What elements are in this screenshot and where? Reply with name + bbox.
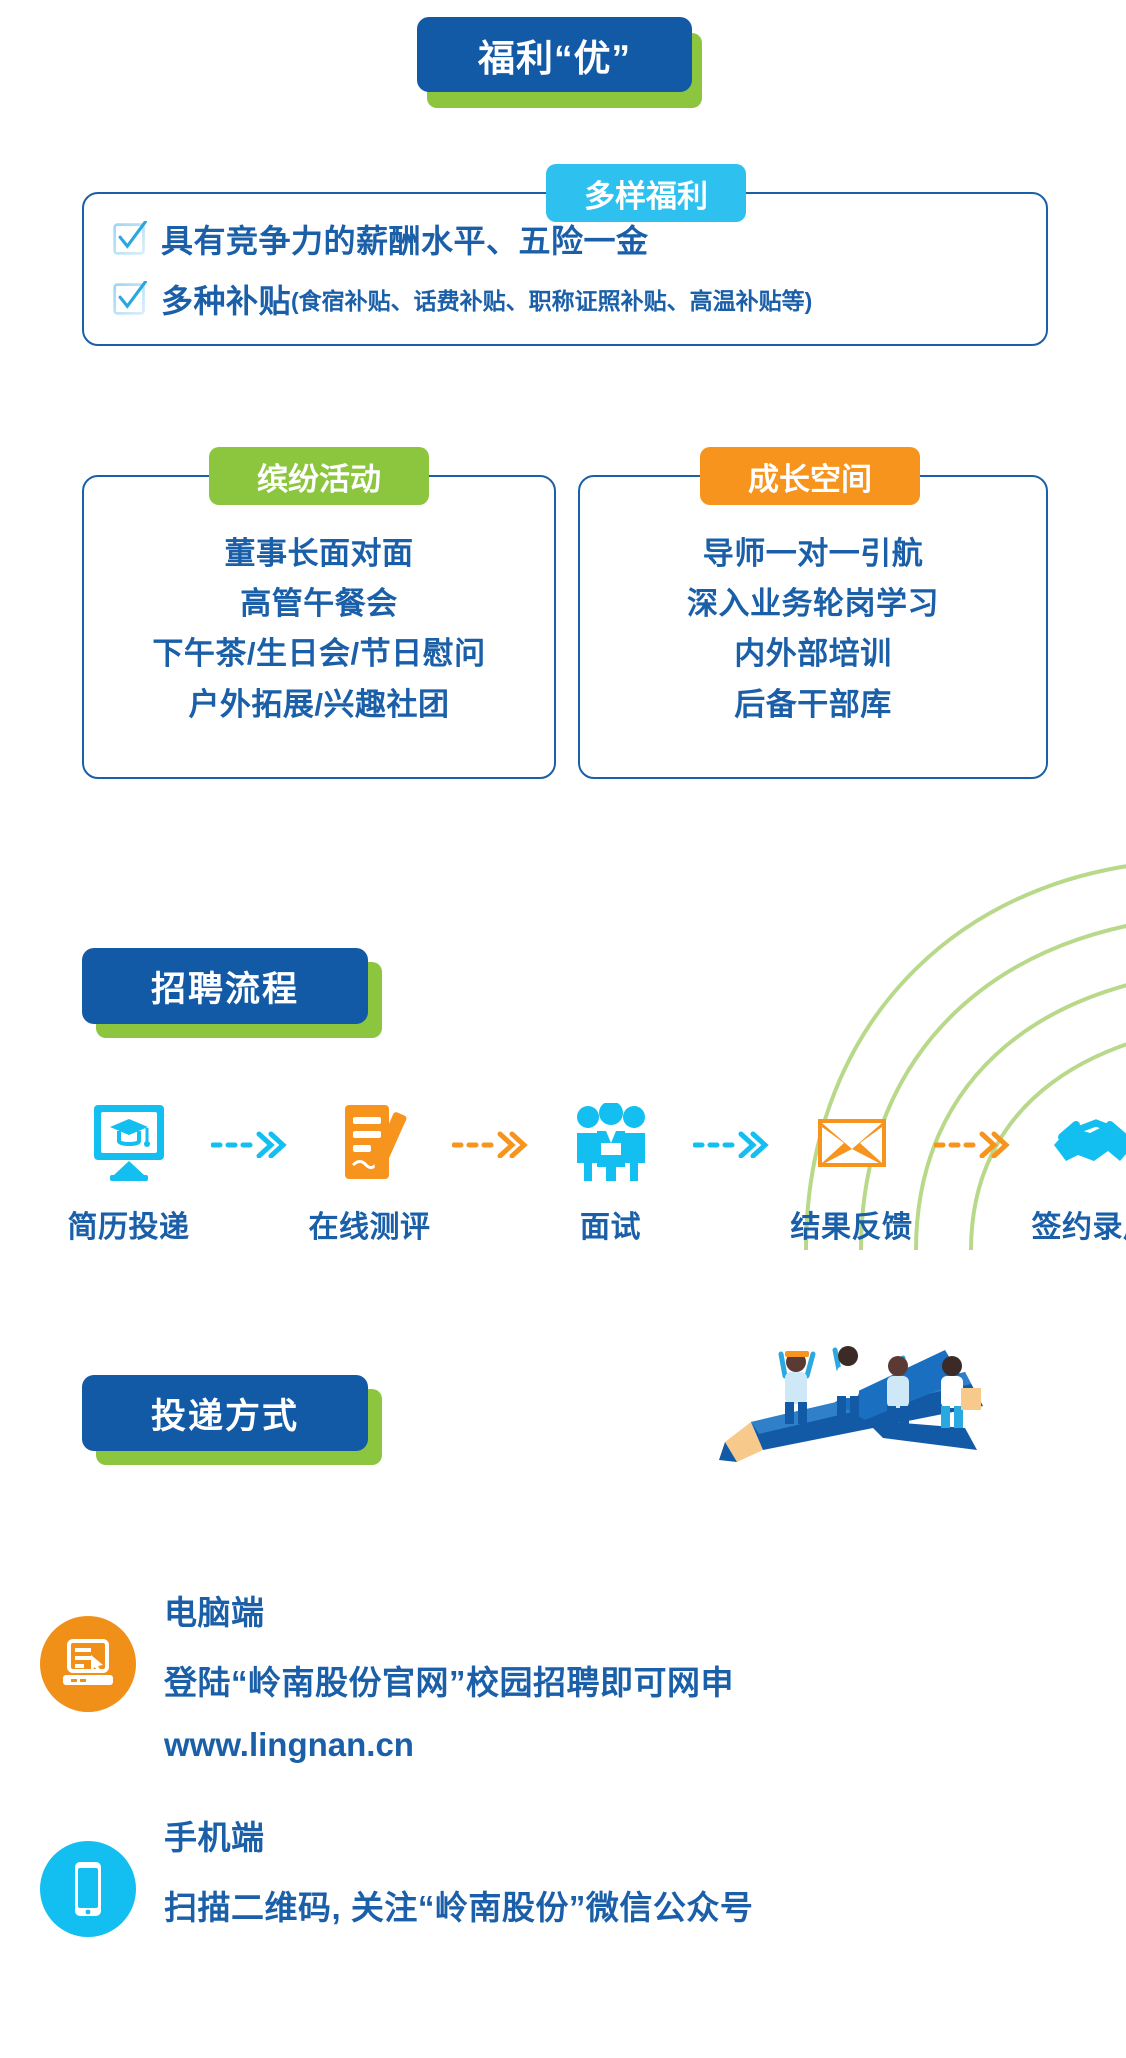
arrow-2-icon — [452, 1100, 528, 1158]
checkbox-checked-icon — [112, 221, 148, 257]
process-step-2: 在线测评 — [287, 1100, 452, 1246]
benefits-panel: 多样福利 具有竞争力的薪酬水平、五险一金 多种补贴 (食宿补贴、话费补贴、职称证… — [82, 192, 1048, 346]
process-step-label: 面试 — [528, 1202, 693, 1246]
process-steps: 简历投递 — [46, 1100, 1088, 1260]
benefit-row: 多种补贴 (食宿补贴、话费补贴、职称证照补贴、高温补贴等) — [112, 276, 812, 322]
process-section-badge: 招聘流程 — [82, 948, 382, 1038]
envelope-icon — [769, 1100, 934, 1186]
monitor-graduation-cap-icon — [46, 1100, 211, 1186]
contact-pc-url[interactable]: www.lingnan.cn — [164, 1726, 734, 1764]
list-item: 下午茶/生日会/节日慰问 — [84, 629, 554, 679]
growth-panel: 成长空间 导师一对一引航 深入业务轮岗学习 内外部培训 后备干部库 — [578, 475, 1048, 779]
process-step-5: 签约录用 — [1010, 1100, 1126, 1246]
contact-mobile-line: 扫描二维码, 关注“岭南股份”微信公众号 — [164, 1881, 753, 1929]
benefit-row: 具有竞争力的薪酬水平、五险一金 — [112, 216, 649, 262]
smartphone-icon — [40, 1841, 136, 1937]
process-step-label: 在线测评 — [287, 1202, 452, 1246]
document-pen-icon — [287, 1100, 452, 1186]
contact-pc-row: 电脑端 登陆“岭南股份官网”校园招聘即可网申 www.lingnan.cn — [40, 1578, 734, 1764]
benefit-text: 具有竞争力的薪酬水平、五险一金 — [161, 216, 649, 262]
process-step-1: 简历投递 — [46, 1100, 211, 1246]
contact-pc-line: 登陆“岭南股份官网”校园招聘即可网申 — [164, 1656, 734, 1704]
page-title-badge: 福利“优” — [417, 17, 707, 110]
growth-badge: 成长空间 — [700, 447, 920, 505]
page-title: 福利“优” — [478, 28, 631, 82]
list-item: 深入业务轮岗学习 — [580, 579, 1046, 629]
activity-badge: 缤纷活动 — [209, 447, 429, 505]
list-item: 导师一对一引航 — [580, 529, 1046, 579]
arrow-3-icon — [693, 1100, 769, 1158]
process-step-label: 简历投递 — [46, 1202, 211, 1246]
apply-badge-plate: 投递方式 — [82, 1375, 368, 1451]
handshake-icon — [1010, 1100, 1126, 1186]
benefit-text: 多种补贴 — [161, 276, 291, 322]
contact-pc-text: 电脑端 登陆“岭南股份官网”校园招聘即可网申 www.lingnan.cn — [164, 1578, 734, 1764]
list-item: 后备干部库 — [580, 680, 1046, 730]
poster-page: 福利“优” 多样福利 具有竞争力的薪酬水平、五险一金 多种补贴 (食宿补贴、话费… — [0, 0, 1126, 2058]
process-step-3: 面试 — [528, 1100, 693, 1246]
apply-badge-label: 投递方式 — [151, 1388, 299, 1439]
benefit-subtext: (食宿补贴、话费补贴、职称证照补贴、高温补贴等) — [291, 282, 812, 316]
checkbox-checked-icon — [112, 281, 148, 317]
activity-list: 董事长面对面 高管午餐会 下午茶/生日会/节日慰问 户外拓展/兴趣社团 — [84, 529, 554, 730]
students-on-pencil-illustration — [715, 1310, 1015, 1510]
list-item: 董事长面对面 — [84, 529, 554, 579]
list-item: 高管午餐会 — [84, 579, 554, 629]
list-item: 户外拓展/兴趣社团 — [84, 680, 554, 730]
contact-mobile-row: 手机端 扫描二维码, 关注“岭南股份”微信公众号 — [40, 1803, 753, 1937]
process-badge-plate: 招聘流程 — [82, 948, 368, 1024]
process-step-4: 结果反馈 — [769, 1100, 934, 1246]
contact-pc-title: 电脑端 — [164, 1586, 734, 1634]
people-group-icon — [528, 1100, 693, 1186]
process-step-label: 结果反馈 — [769, 1202, 934, 1246]
activity-panel: 缤纷活动 董事长面对面 高管午餐会 下午茶/生日会/节日慰问 户外拓展/兴趣社团 — [82, 475, 556, 779]
contact-mobile-title: 手机端 — [164, 1811, 753, 1859]
list-item: 内外部培训 — [580, 629, 1046, 679]
title-blue-plate: 福利“优” — [417, 17, 692, 92]
arrow-1-icon — [211, 1100, 287, 1158]
arrow-4-icon — [934, 1100, 1010, 1158]
contact-mobile-text: 手机端 扫描二维码, 关注“岭南股份”微信公众号 — [164, 1803, 753, 1929]
growth-list: 导师一对一引航 深入业务轮岗学习 内外部培训 后备干部库 — [580, 529, 1046, 730]
laptop-cursor-icon — [40, 1616, 136, 1712]
process-step-label: 签约录用 — [1010, 1202, 1126, 1246]
apply-section-badge: 投递方式 — [82, 1375, 382, 1465]
benefits-badge: 多样福利 — [546, 164, 746, 222]
process-badge-label: 招聘流程 — [151, 961, 299, 1012]
